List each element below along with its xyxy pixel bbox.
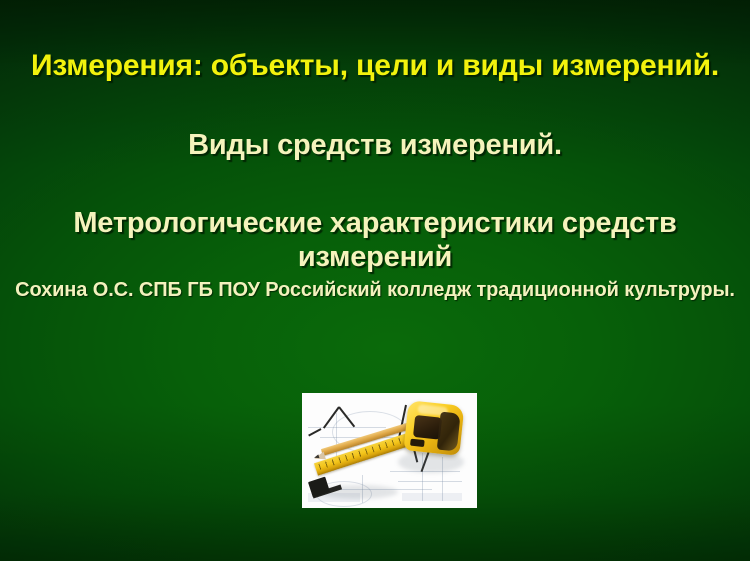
presentation-slide: Измерения: объекты, цели и виды измерени…	[0, 0, 750, 561]
slide-text-block: Измерения: объекты, цели и виды измерени…	[0, 0, 750, 302]
divider-leg-icon	[308, 428, 321, 436]
slide-title-tertiary: Метрологические характеристики средств и…	[0, 163, 750, 275]
case-lock-button-icon	[410, 439, 425, 447]
image-canvas	[302, 393, 477, 508]
measuring-tools-image	[302, 393, 477, 508]
case-side-panel	[437, 412, 461, 452]
tape-measure-case-icon	[404, 400, 465, 456]
slide-title-secondary: Виды средств измерений.	[0, 83, 750, 163]
blueprint-line	[398, 481, 462, 482]
slide-title-primary: Измерения: объекты, цели и виды измерени…	[0, 0, 750, 83]
blueprint-smudge	[402, 493, 462, 501]
slide-author-line: Сохина О.С. СПБ ГБ ПОУ Российский коллед…	[0, 275, 750, 302]
